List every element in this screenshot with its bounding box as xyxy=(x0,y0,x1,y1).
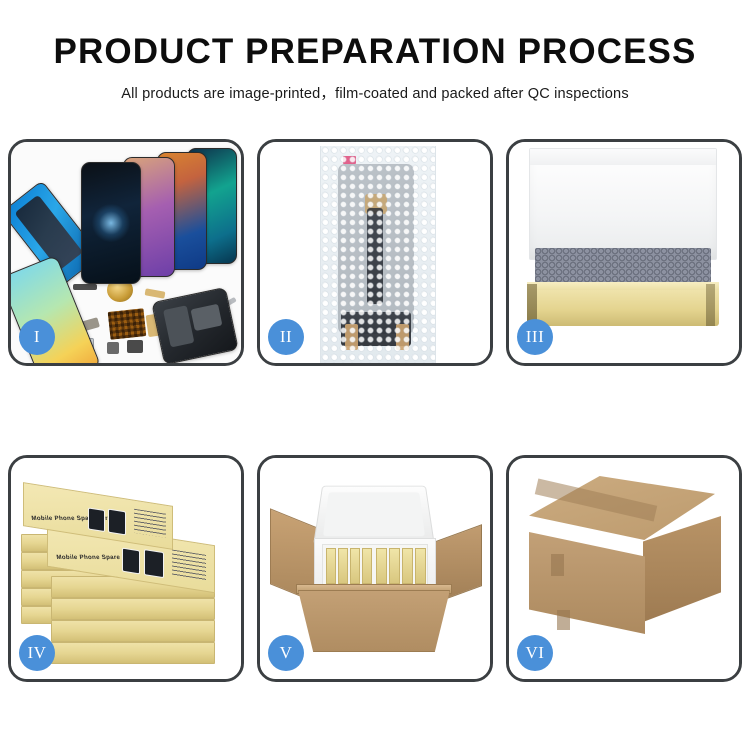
process-step-panel-5: V xyxy=(257,455,493,682)
foam-lid xyxy=(313,486,435,545)
page-title: PRODUCT PREPARATION PROCESS xyxy=(0,34,750,71)
process-step-grid: I II xyxy=(8,139,742,682)
box-thumb-middle-a xyxy=(122,548,140,575)
page-subtitle: All products are image-printed，film-coat… xyxy=(0,82,750,103)
box-thumb-middle-b xyxy=(144,549,164,578)
phone-screen-black xyxy=(81,162,141,284)
process-step-panel-6: VI xyxy=(506,455,742,682)
inner-yellow-box-2 xyxy=(338,548,348,584)
step-badge-2: II xyxy=(268,319,304,355)
step-badge-3: III xyxy=(517,319,553,355)
kraft-tray-side-right xyxy=(706,284,715,326)
box-lid-open xyxy=(529,148,717,260)
wrapped-flex-cable xyxy=(367,208,383,304)
connector-board-part xyxy=(108,308,147,340)
process-step-panel-3: III xyxy=(506,139,742,366)
bubble-wrap-bag xyxy=(320,146,436,363)
header: PRODUCT PREPARATION PROCESS All products… xyxy=(0,0,750,103)
inner-yellow-box-8 xyxy=(415,548,426,584)
small-part-speaker xyxy=(127,340,143,353)
box-spec-lines-top xyxy=(134,509,166,538)
carton-tape-upper xyxy=(551,554,564,576)
pink-qc-sticker xyxy=(343,156,356,164)
step-badge-5: V xyxy=(268,635,304,671)
small-part-strip xyxy=(73,284,97,290)
step-badge-6: VI xyxy=(517,635,553,671)
step-badge-4: IV xyxy=(19,635,55,671)
small-part-button xyxy=(107,342,119,354)
box-thumb-top-a xyxy=(88,507,105,532)
inner-yellow-box-5 xyxy=(376,548,387,584)
phone-back-housing xyxy=(151,287,239,363)
inner-yellow-box-4 xyxy=(362,548,372,584)
step-badge-1: I xyxy=(19,319,55,355)
carton-tape-lower xyxy=(557,610,570,630)
carton-body xyxy=(298,590,450,652)
process-step-panel-2: II xyxy=(257,139,493,366)
carton-front-face xyxy=(529,532,645,634)
stacked-box-r3 xyxy=(51,620,215,642)
stacked-box-r4 xyxy=(51,642,215,664)
product-preparation-infographic: PRODUCT PREPARATION PROCESS All products… xyxy=(0,0,750,750)
box-spec-lines-middle xyxy=(172,549,206,580)
box-thumb-top-b xyxy=(108,509,126,536)
wrapped-tab-left xyxy=(345,324,358,350)
inner-yellow-box-3 xyxy=(350,548,360,584)
inner-yellow-box-1 xyxy=(326,548,336,584)
process-step-panel-1: I xyxy=(8,139,244,366)
kraft-tray-body xyxy=(527,290,719,326)
process-step-panel-4: Mobile Phone Spare Parts Mobile Phone Sp… xyxy=(8,455,244,682)
wrapped-tab-right xyxy=(396,324,409,350)
inner-yellow-box-7 xyxy=(402,548,413,584)
flex-cable-part-a xyxy=(145,288,166,298)
stacked-box-r2 xyxy=(51,598,215,620)
inner-yellow-box-6 xyxy=(389,548,400,584)
